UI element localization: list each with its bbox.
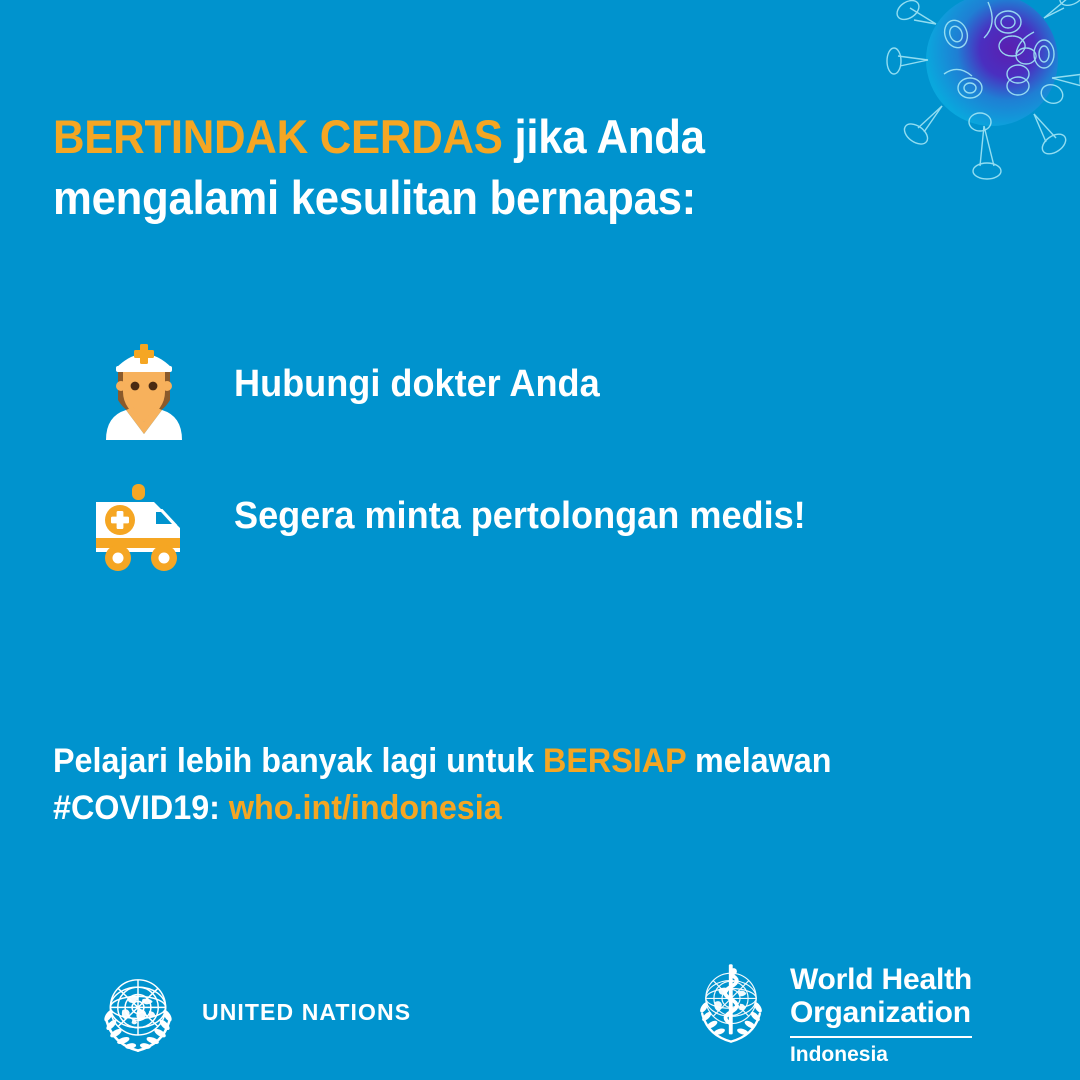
who-logo: World Health Organization Indonesia [686, 957, 972, 1066]
united-nations-emblem [92, 966, 184, 1058]
list-item-label: Hubungi dokter Anda [234, 336, 600, 410]
cta-accent: BERSIAP [543, 742, 686, 780]
call-to-action: Pelajari lebih banyak lagi untuk BERSIAP… [53, 738, 965, 832]
who-wordmark: World Health Organization Indonesia [790, 957, 972, 1066]
list-item: Hubungi dokter Anda [88, 336, 1008, 440]
united-nations-label: UNITED NATIONS [202, 999, 411, 1026]
who-name-line-2: Organization [790, 996, 972, 1029]
poster-canvas: BERTINDAK CERDAS jika Anda mengalami kes… [0, 0, 1080, 1080]
who-country-label: Indonesia [790, 1043, 972, 1066]
list-item: Segera minta pertolongan medis! [88, 482, 1008, 574]
world-health-organization-emblem [686, 957, 776, 1047]
who-divider [790, 1036, 972, 1038]
who-name-line-1: World Health [790, 963, 972, 996]
advice-list: Hubungi dokter Anda [88, 336, 1008, 616]
list-item-label: Segera minta pertolongan medis! [234, 482, 806, 542]
page-title: BERTINDAK CERDAS jika Anda mengalami kes… [53, 106, 853, 228]
ambulance-icon [88, 482, 200, 574]
headline-accent: BERTINDAK CERDAS [53, 110, 503, 163]
coronavirus-illustration [884, 0, 1080, 197]
nurse-icon [88, 336, 200, 440]
cta-lead: Pelajari lebih banyak lagi untuk [53, 742, 543, 780]
cta-url[interactable]: who.int/indonesia [229, 789, 502, 827]
united-nations-logo: UNITED NATIONS [92, 966, 411, 1058]
